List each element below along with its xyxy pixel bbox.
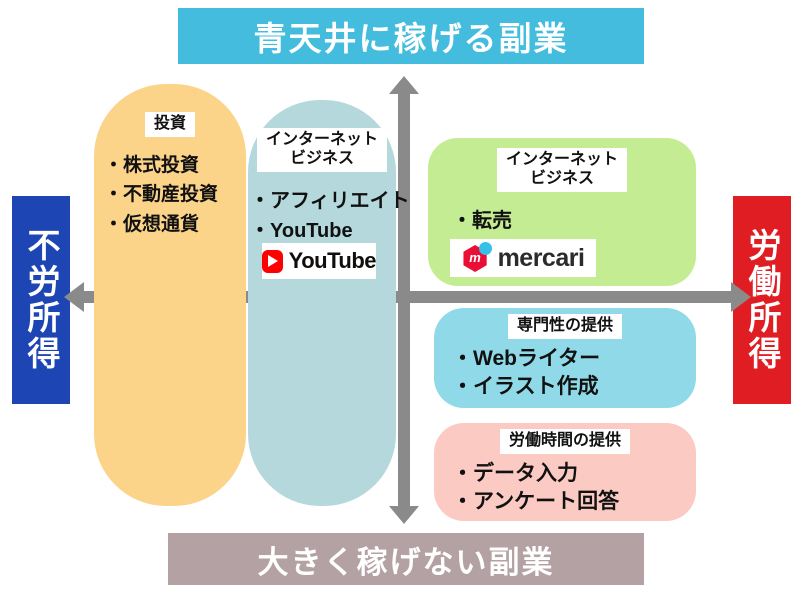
card-investment: 投資 株式投資 不動産投資 仮想通貨 xyxy=(94,84,246,506)
list-item: アフィリエイト xyxy=(250,186,396,216)
circle-dot-icon xyxy=(479,242,492,255)
mercari-mark-icon: m xyxy=(462,242,494,274)
youtube-play-icon xyxy=(262,250,283,273)
card-netbiz-left-title-wrap: インターネット ビジネス xyxy=(248,128,396,172)
card-labortime-title: 労働時間の提供 xyxy=(500,429,630,454)
mercari-wordmark: mercari xyxy=(498,244,585,273)
card-netbiz-left-list: アフィリエイト YouTube xyxy=(250,186,396,246)
list-item: Webライター xyxy=(452,345,696,373)
card-expertise-title-wrap: 専門性の提供 xyxy=(434,308,696,339)
card-investment-title: 投資 xyxy=(145,112,195,137)
card-labor-time: 労働時間の提供 データ入力 アンケート回答 xyxy=(434,423,696,521)
card-investment-list: 株式投資 不動産投資 仮想通貨 xyxy=(104,151,246,239)
youtube-wordmark: YouTube xyxy=(289,248,376,274)
card-netbiz-left-title: インターネット ビジネス xyxy=(257,128,387,172)
arrow-down-icon xyxy=(389,506,419,524)
banner-bottom: 大きく稼げない副業 xyxy=(168,533,644,585)
banner-left-label: 不労所得 xyxy=(17,228,65,372)
banner-top-label: 青天井に稼げる副業 xyxy=(254,12,569,60)
list-item: YouTube xyxy=(250,216,396,246)
card-netbiz-right-list: 転売 xyxy=(452,204,696,233)
card-netbiz-right-title: インターネット ビジネス xyxy=(497,148,627,192)
list-item: データ入力 xyxy=(452,460,696,488)
card-expertise-list: Webライター イラスト作成 xyxy=(452,345,696,402)
play-triangle-icon xyxy=(268,255,278,267)
card-netbiz-right-title-wrap: インターネット ビジネス xyxy=(428,138,696,192)
mercari-logo: m mercari xyxy=(450,239,596,277)
list-item: アンケート回答 xyxy=(452,488,696,516)
card-investment-title-wrap: 投資 xyxy=(94,112,246,137)
card-expertise: 専門性の提供 Webライター イラスト作成 xyxy=(434,308,696,408)
list-item: イラスト作成 xyxy=(452,373,696,401)
list-item: 不動産投資 xyxy=(104,180,246,209)
card-labortime-title-wrap: 労働時間の提供 xyxy=(434,423,696,454)
list-item: 仮想通貨 xyxy=(104,210,246,239)
list-item: 転売 xyxy=(452,204,696,233)
banner-bottom-label: 大きく稼げない副業 xyxy=(258,537,555,582)
vertical-axis-line xyxy=(398,90,410,510)
youtube-logo: YouTube xyxy=(262,243,376,279)
card-internet-business-passive: インターネット ビジネス アフィリエイト YouTube xyxy=(248,100,396,506)
banner-top: 青天井に稼げる副業 xyxy=(178,8,644,64)
banner-left-passive-income: 不労所得 xyxy=(12,196,70,404)
arrow-up-icon xyxy=(389,76,419,94)
arrow-right-icon xyxy=(731,282,751,312)
card-labortime-list: データ入力 アンケート回答 xyxy=(452,460,696,517)
card-expertise-title: 専門性の提供 xyxy=(508,314,622,339)
list-item: 株式投資 xyxy=(104,151,246,180)
infographic-canvas: 青天井に稼げる副業 大きく稼げない副業 不労所得 労働所得 投資 株式投資 不動… xyxy=(0,0,800,600)
arrow-left-icon xyxy=(64,282,84,312)
